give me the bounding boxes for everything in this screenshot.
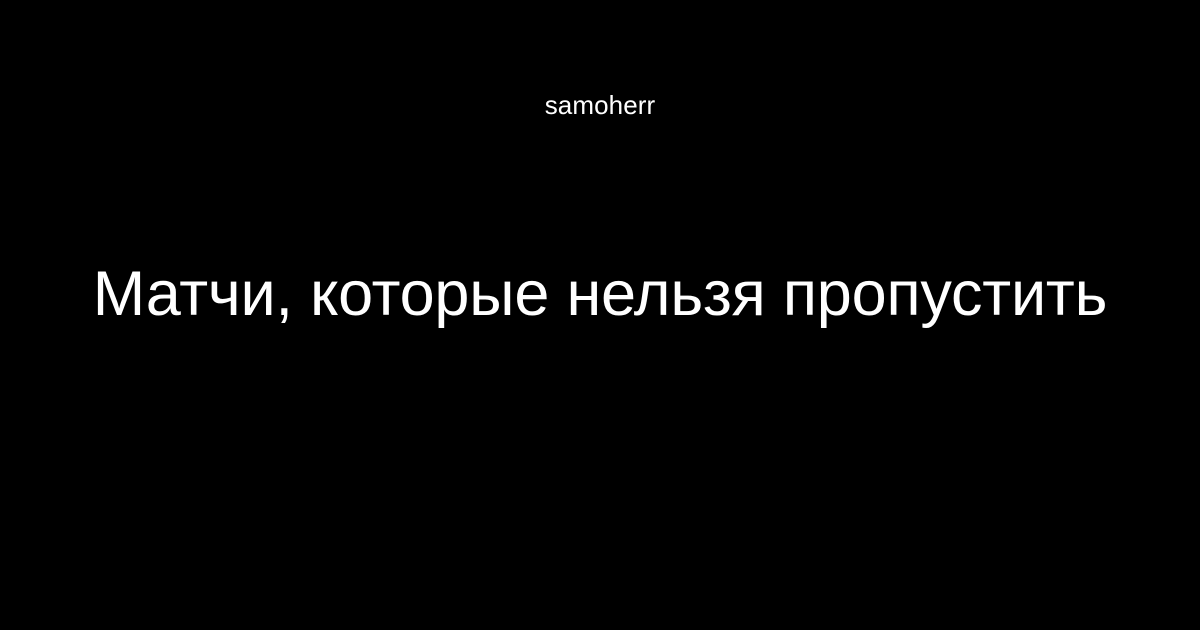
byline-row: samoherr	[0, 0, 1200, 118]
middle-spacer	[0, 118, 1200, 248]
bottom-spacer	[0, 340, 1200, 630]
page-title: Матчи, которые нельзя пропустить	[93, 259, 1107, 330]
headline-row: Матчи, которые нельзя пропустить	[0, 248, 1200, 340]
share-card: samoherr Матчи, которые нельзя пропустит…	[0, 0, 1200, 630]
author-handle[interactable]: samoherr	[545, 92, 656, 118]
